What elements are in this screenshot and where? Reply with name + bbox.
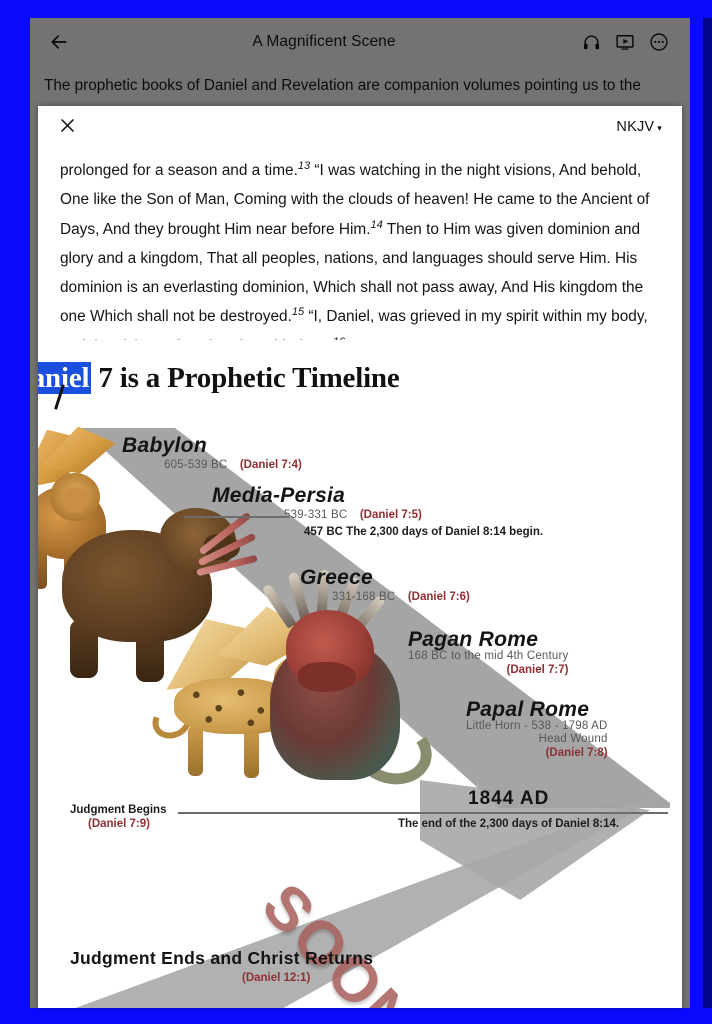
app-window-frame: A Magnificent Scene xyxy=(0,0,712,1024)
entry-date: 331-168 BC xyxy=(332,591,395,603)
entry-reference: (Daniel 7:4) xyxy=(240,459,302,471)
timeline-heading: Daniel 7 is a Prophetic Timeline xyxy=(38,362,400,395)
more-options-icon[interactable] xyxy=(642,27,676,57)
timeline-entry-pagan-rome: Pagan Rome 168 BC to the mid 4th Century… xyxy=(408,628,569,676)
entry-date: 168 BC to the mid 4th Century xyxy=(408,650,569,662)
dragon-jaw xyxy=(298,662,356,692)
verse-popup-modal: NKJV▾ prolonged for a season and a time.… xyxy=(38,106,682,1008)
entry-name: Judgment Begins xyxy=(70,804,166,816)
entry-name: 1844 AD xyxy=(468,788,549,810)
entry-date-secondary: Head Wound xyxy=(466,733,608,745)
timeline-1844-note: The end of the 2,300 days of Daniel 8:14… xyxy=(398,818,619,830)
video-icon[interactable] xyxy=(608,27,642,57)
entry-date: 605-539 BC xyxy=(164,459,227,471)
entry-reference: (Daniel 12:1) xyxy=(242,972,373,984)
timeline-year-1844: 1844 AD xyxy=(468,788,549,810)
entry-date: 539-331 BC xyxy=(284,509,347,521)
back-arrow-icon[interactable] xyxy=(44,27,74,57)
entry-name: Judgment Ends and Christ Returns xyxy=(70,948,373,969)
verse-number: 14 xyxy=(371,218,383,230)
entry-reference: (Daniel 7:5) xyxy=(360,509,422,521)
timeline-tick-457bc xyxy=(184,516,288,518)
close-x-icon[interactable] xyxy=(58,116,84,139)
entry-reference: (Daniel 7:9) xyxy=(88,818,166,830)
timeline-entry-papal-rome: Papal Rome Little Horn - 538 - 1798 AD H… xyxy=(466,698,608,759)
verse-modal-header: NKJV▾ xyxy=(38,106,682,148)
timeline-main-axis xyxy=(178,812,668,814)
entry-reference: (Daniel 7:6) xyxy=(408,591,470,603)
page-title: A Magnificent Scene xyxy=(74,33,574,51)
scripture-passage: prolonged for a season and a time.13 “I … xyxy=(38,148,682,361)
entry-date: Little Horn - 538 - 1798 AD xyxy=(466,720,608,732)
leopard-leg xyxy=(188,726,203,776)
entry-note: The end of the 2,300 days of Daniel 8:14… xyxy=(398,818,619,830)
entry-reference: (Daniel 7:7) xyxy=(408,664,569,676)
verse-number: 15 xyxy=(292,306,304,318)
headphones-icon[interactable] xyxy=(574,27,608,57)
bible-version-dropdown[interactable]: NKJV▾ xyxy=(616,119,662,135)
timeline-heading-rest: 7 is a Prophetic Timeline xyxy=(91,362,399,394)
timeline-entry-greece: Greece 331-168 BC (Daniel 7:6) xyxy=(300,566,470,605)
verse-number: 13 xyxy=(298,160,310,172)
timeline-entry-media-persia: Media-Persia 539-331 BC (Daniel 7:5) 457… xyxy=(212,484,543,538)
selected-text-highlight: Daniel xyxy=(38,362,91,394)
entry-name: Papal Rome xyxy=(466,698,608,722)
chevron-down-icon: ▾ xyxy=(657,123,662,133)
dragon-beast-illustration xyxy=(250,570,450,810)
entry-name: Pagan Rome xyxy=(408,628,569,652)
entry-reference: (Daniel 7:8) xyxy=(466,747,608,759)
timeline-judgment-begins: Judgment Begins (Daniel 7:9) xyxy=(70,804,166,830)
timeline-judgment-ends: Judgment Ends and Christ Returns (Daniel… xyxy=(70,948,373,984)
reader-toolbar: A Magnificent Scene xyxy=(30,18,690,66)
timeline-entry-babylon: Babylon 605-539 BC (Daniel 7:4) xyxy=(122,434,302,473)
scrollbar[interactable] xyxy=(703,18,712,1008)
entry-note: 457 BC The 2,300 days of Daniel 8:14 beg… xyxy=(304,526,543,538)
prophetic-timeline-figure: Daniel 7 is a Prophetic Timeline SOON xyxy=(38,340,682,1008)
bible-version-label: NKJV xyxy=(616,119,654,135)
